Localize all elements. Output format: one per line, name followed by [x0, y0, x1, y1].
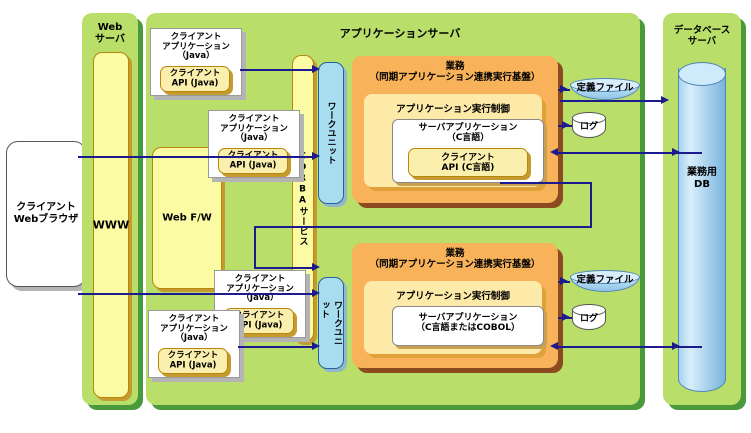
definition-file-label-upper: 定義ファイル: [570, 84, 640, 95]
client-api-label-4: クライアント API (Java): [159, 351, 227, 370]
app-exec-control-label-lower: アプリケーション実行制御: [364, 288, 542, 302]
definition-file-label-lower: 定義ファイル: [570, 276, 640, 287]
client-api-box-2: クライアント API (Java): [218, 148, 288, 174]
definition-file-cylinder-lower: 定義ファイル: [570, 270, 640, 292]
arrowhead-deffile-upper: [560, 85, 568, 93]
architecture-diagram: クライアント Webブラウザ Web サーバ WWW アプリケーションサーバ W…: [0, 0, 751, 433]
arrowhead-deffile-lower: [560, 277, 568, 285]
work-unit-lower-label: ワークユニット: [318, 301, 344, 346]
connector-db-to-bizupper: [556, 152, 702, 154]
server-app-label-lower: サーバアプリケーション （C言語またはCOBOL）: [393, 313, 543, 334]
definition-file-cylinder-upper: 定義ファイル: [570, 78, 640, 100]
connector-browser-to-corba-lower: [78, 293, 316, 295]
client-app-title-1: クライアント アプリケーション （Java）: [151, 33, 241, 62]
client-app-title-3: クライアント アプリケーション （Java）: [215, 275, 305, 304]
connector-browser-to-corba-upper: [78, 156, 316, 158]
client-browser-box: クライアント Webブラウザ: [6, 141, 86, 287]
log-label-lower: ログ: [572, 314, 606, 324]
app-exec-control-upper: アプリケーション実行制御 サーバアプリケーション （C言語） クライアント AP…: [364, 94, 542, 187]
inner-client-api-box-upper: クライアント API (C言語): [408, 148, 528, 177]
client-api-label-2: クライアント API (Java): [219, 151, 287, 170]
client-app-box-1: クライアント アプリケーション （Java） クライアント API (Java): [150, 28, 242, 96]
business-header-upper: 業務 （同期アプリケーション連携実行基盤）: [352, 62, 558, 84]
connector-innerapi-seg3: [254, 226, 592, 228]
arrowhead-bizupper-left: [550, 148, 558, 156]
arrowhead-bizupper-db-in: [661, 96, 669, 104]
db-server-title: データベース サーバ: [663, 26, 741, 48]
app-server-title: アプリケーションサーバ: [300, 28, 500, 41]
inner-client-api-label-upper: クライアント API (C言語): [409, 152, 527, 172]
server-app-box-lower: サーバアプリケーション （C言語またはCOBOL）: [392, 306, 544, 346]
connector-innerapi-seg4: [254, 226, 256, 269]
connector-innerapi-seg2: [590, 182, 592, 228]
connector-app3-to-workunit: [304, 293, 316, 295]
client-app-box-4: クライアント アプリケーション （Java） クライアント API (Java): [148, 310, 240, 378]
connector-innerapi-seg1: [500, 182, 592, 184]
connector-app1-to-workunit: [240, 69, 316, 71]
arrowhead-app4-workunit: [312, 342, 320, 350]
connector-innerapi-seg5: [254, 267, 316, 269]
arrowhead-db-lower-right: [672, 342, 680, 350]
arrowhead-innerapi-workunit: [312, 263, 320, 271]
business-db-cylinder: 業務用 DB: [678, 62, 726, 392]
connector-db-to-bizlower: [556, 346, 702, 348]
arrowhead-db-upper-right: [672, 148, 680, 156]
business-block-upper: 業務 （同期アプリケーション連携実行基盤） アプリケーション実行制御 サーバアプ…: [352, 56, 558, 203]
client-browser-label: クライアント Webブラウザ: [7, 202, 85, 226]
connector-app4-to-workunit: [238, 346, 316, 348]
arrowhead-app1-workunit: [312, 65, 320, 73]
client-app-box-2: クライアント アプリケーション （Java） クライアント API (Java): [208, 110, 300, 178]
arrowhead-bizlower-left: [550, 342, 558, 350]
client-api-box-1: クライアント API (Java): [160, 66, 230, 92]
client-app-title-4: クライアント アプリケーション （Java）: [149, 315, 239, 344]
work-unit-lower: ワークユニット: [318, 277, 344, 369]
app-exec-control-lower: アプリケーション実行制御 サーバアプリケーション （C言語またはCOBOL）: [364, 281, 542, 354]
arrowhead-corba-upper: [312, 152, 320, 160]
app-exec-control-label-upper: アプリケーション実行制御: [364, 101, 542, 115]
client-app-title-2: クライアント アプリケーション （Java）: [209, 115, 299, 144]
work-unit-upper-label: ワークユニット: [325, 102, 338, 165]
business-db-label: 業務用 DB: [678, 167, 726, 190]
arrowhead-log-lower: [562, 313, 570, 321]
business-header-lower: 業務 （同期アプリケーション連携実行基盤）: [352, 249, 558, 271]
client-api-label-1: クライアント API (Java): [161, 69, 229, 88]
work-unit-upper: ワークユニット: [318, 62, 344, 204]
web-server-title: Web サーバ: [82, 22, 138, 45]
business-block-lower: 業務 （同期アプリケーション連携実行基盤） アプリケーション実行制御 サーバアプ…: [352, 243, 558, 368]
connector-bizupper-to-db-in: [560, 100, 665, 102]
www-column: WWW: [93, 52, 129, 398]
web-fw-label: Web F/W: [162, 213, 212, 224]
log-cylinder-upper: ログ: [572, 112, 606, 138]
log-cylinder-lower: ログ: [572, 304, 606, 330]
arrowhead-log-upper: [562, 121, 570, 129]
client-api-box-4: クライアント API (Java): [158, 348, 228, 374]
server-app-box-upper: サーバアプリケーション （C言語） クライアント API (C言語): [392, 119, 544, 183]
log-label-upper: ログ: [572, 122, 606, 132]
www-column-label: WWW: [93, 219, 129, 232]
server-app-label-upper: サーバアプリケーション （C言語）: [393, 123, 543, 144]
